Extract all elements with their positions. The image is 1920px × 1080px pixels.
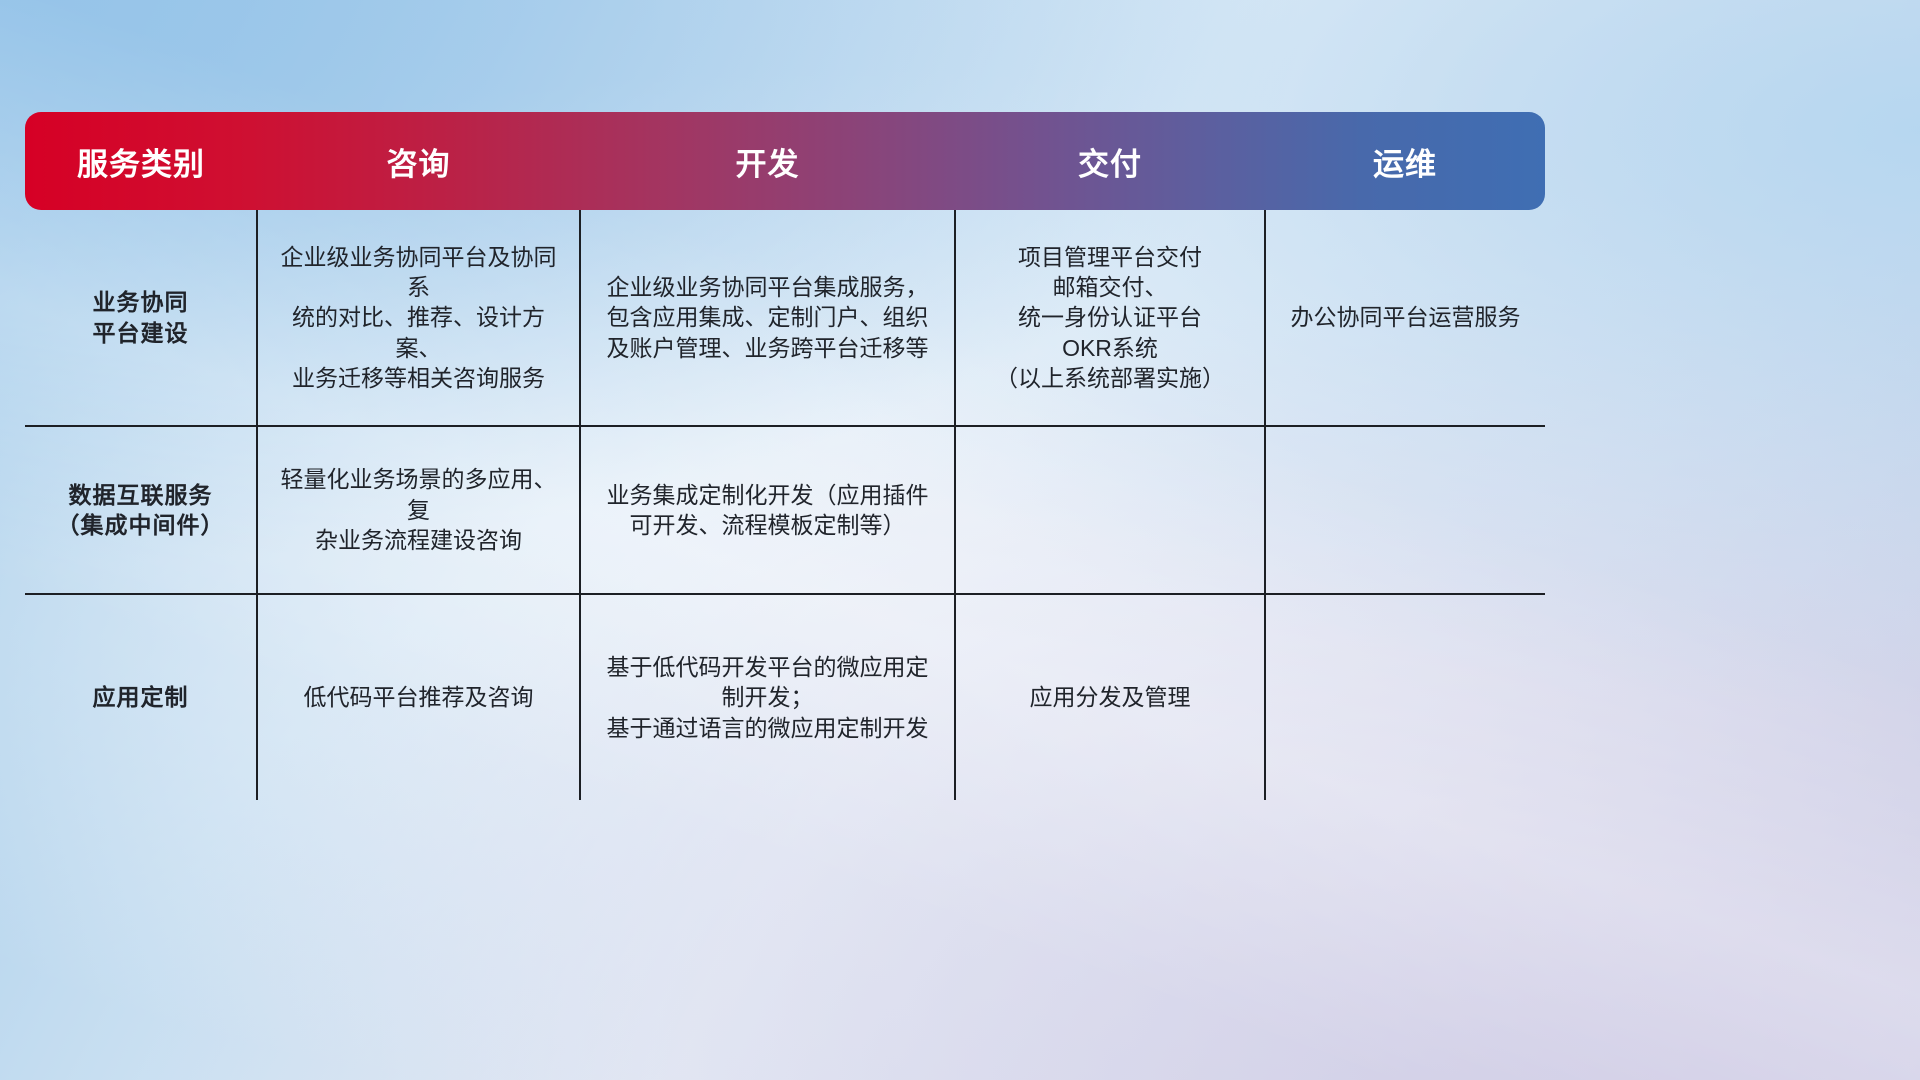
cell-development-2: 业务集成定制化开发（应用插件 可开发、流程模板定制等） — [580, 426, 955, 594]
cell-text: 数据互联服务 （集成中间件） — [57, 482, 225, 538]
cell-operations-1: 办公协同平台运营服务 — [1265, 210, 1545, 426]
cell-consulting-2: 轻量化业务场景的多应用、复 杂业务流程建设咨询 — [257, 426, 580, 594]
cell-text: 办公协同平台运营服务 — [1291, 304, 1521, 330]
cell-consulting-1: 企业级业务协同平台及协同系 统的对比、推荐、设计方案、 业务迁移等相关咨询服务 — [257, 210, 580, 426]
cell-category-2: 数据互联服务 （集成中间件） — [25, 426, 257, 594]
column-header-consulting: 咨询 — [257, 112, 580, 210]
cell-text: 基于低代码开发平台的微应用定 制开发； 基于通过语言的微应用定制开发 — [607, 654, 929, 741]
cell-text: 企业级业务协同平台及协同系 统的对比、推荐、设计方案、 业务迁移等相关咨询服务 — [281, 244, 557, 391]
cell-text: 低代码平台推荐及咨询 — [304, 684, 534, 710]
cell-consulting-3: 低代码平台推荐及咨询 — [257, 594, 580, 800]
service-matrix-table: 服务类别 咨询 开发 交付 运维 业务协同 平台建设 企业级业务协同平台及协同系… — [25, 112, 1545, 800]
cell-development-3: 基于低代码开发平台的微应用定 制开发； 基于通过语言的微应用定制开发 — [580, 594, 955, 800]
column-header-category: 服务类别 — [25, 112, 257, 210]
cell-text: 应用分发及管理 — [1030, 684, 1191, 710]
cell-delivery-2 — [955, 426, 1265, 594]
service-matrix-table-wrapper: 服务类别 咨询 开发 交付 运维 业务协同 平台建设 企业级业务协同平台及协同系… — [25, 112, 1545, 800]
cell-text: 应用定制 — [93, 684, 189, 710]
cell-delivery-1: 项目管理平台交付 邮箱交付、 统一身份认证平台 OKR系统 （以上系统部署实施） — [955, 210, 1265, 426]
cell-text: 业务集成定制化开发（应用插件 可开发、流程模板定制等） — [607, 482, 929, 538]
cell-operations-3 — [1265, 594, 1545, 800]
cell-category-3: 应用定制 — [25, 594, 257, 800]
cell-text: 企业级业务协同平台集成服务， 包含应用集成、定制门户、组织 及账户管理、业务跨平… — [607, 274, 929, 361]
cell-operations-2 — [1265, 426, 1545, 594]
column-header-development: 开发 — [580, 112, 955, 210]
cell-delivery-3: 应用分发及管理 — [955, 594, 1265, 800]
table-row: 应用定制 低代码平台推荐及咨询 基于低代码开发平台的微应用定 制开发； 基于通过… — [25, 594, 1545, 800]
cell-text: 业务协同 平台建设 — [93, 289, 189, 345]
table-header-row: 服务类别 咨询 开发 交付 运维 — [25, 112, 1545, 210]
cell-development-1: 企业级业务协同平台集成服务， 包含应用集成、定制门户、组织 及账户管理、业务跨平… — [580, 210, 955, 426]
table-row: 业务协同 平台建设 企业级业务协同平台及协同系 统的对比、推荐、设计方案、 业务… — [25, 210, 1545, 426]
slide-canvas: 服务类别 咨询 开发 交付 运维 业务协同 平台建设 企业级业务协同平台及协同系… — [0, 0, 1920, 1080]
cell-text: 项目管理平台交付 邮箱交付、 统一身份认证平台 OKR系统 （以上系统部署实施） — [995, 244, 1225, 391]
column-header-operations: 运维 — [1265, 112, 1545, 210]
column-header-delivery: 交付 — [955, 112, 1265, 210]
cell-text: 轻量化业务场景的多应用、复 杂业务流程建设咨询 — [281, 466, 557, 553]
cell-category-1: 业务协同 平台建设 — [25, 210, 257, 426]
table-row: 数据互联服务 （集成中间件） 轻量化业务场景的多应用、复 杂业务流程建设咨询 业… — [25, 426, 1545, 594]
